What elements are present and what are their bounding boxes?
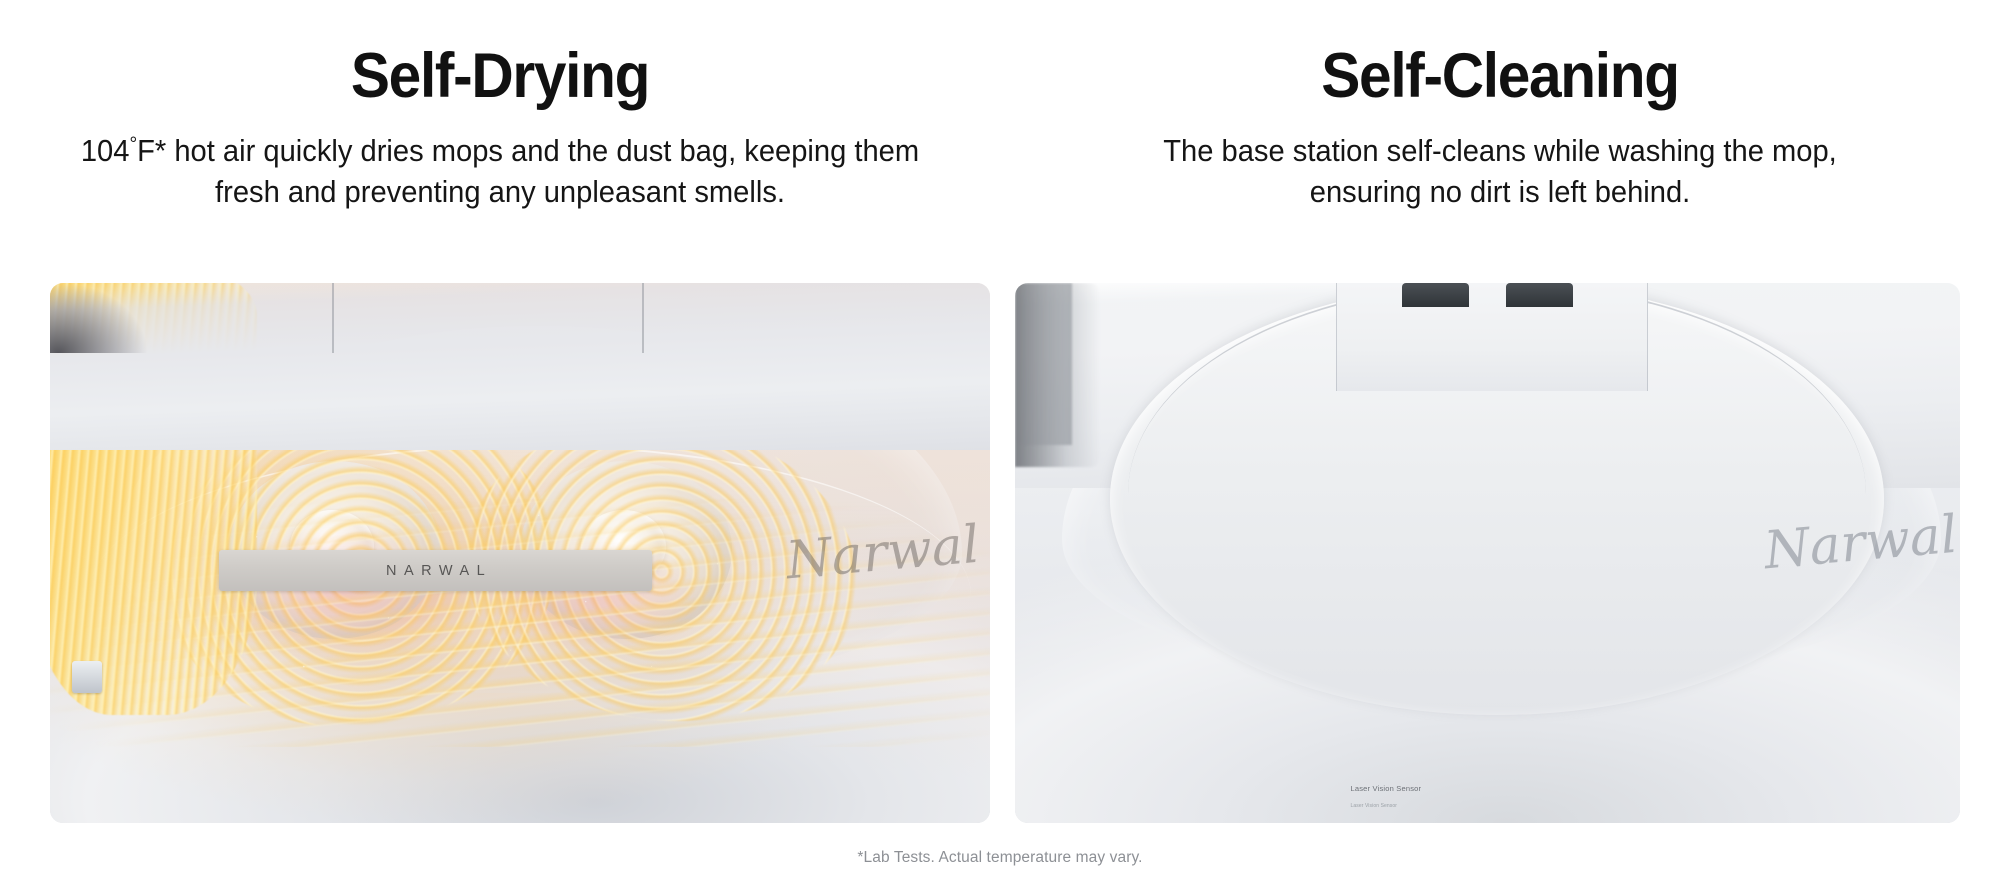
description-self-cleaning: The base station self-cleans while washi…: [1123, 108, 1877, 212]
robot-body-plate: [50, 283, 990, 450]
feature-comparison-page: Self-Drying 104°F* hot air quickly dries…: [0, 0, 2000, 889]
sensor-sublabel: Laser Vision Sensor: [1350, 803, 1397, 809]
body-seam-right: [642, 283, 644, 353]
feature-column-self-cleaning: Self-Cleaning The base station self-clea…: [1000, 0, 2000, 212]
degree-symbol: °: [129, 134, 137, 156]
page-title-self-cleaning: Self-Cleaning: [1035, 0, 1965, 108]
brand-logotype: NARWAL: [379, 563, 493, 579]
feature-column-self-drying: Self-Drying 104°F* hot air quickly dries…: [0, 0, 1000, 212]
sensor-panel: [1336, 283, 1648, 391]
feature-image-self-cleaning: NARWAL Laser Vision Sensor Laser Vision …: [1015, 283, 1960, 823]
feature-columns: Self-Drying 104°F* hot air quickly dries…: [0, 0, 2000, 212]
description-self-drying-text: 104°F* hot air quickly dries mops and th…: [81, 134, 919, 208]
corner-shadow: [50, 283, 153, 353]
side-shadow-right: [1015, 283, 1072, 445]
vent-left: [1402, 283, 1468, 307]
body-seam-left: [332, 283, 334, 353]
footnote-disclaimer: *Lab Tests. Actual temperature may vary.: [0, 849, 2000, 867]
feature-image-self-drying: NARWAL Narwal: [50, 283, 990, 823]
vent-right: [1506, 283, 1572, 307]
brand-strip-self-drying: NARWAL: [219, 550, 651, 591]
sensor-label: Laser Vision Sensor: [1350, 784, 1421, 793]
water-nozzle: [72, 661, 102, 693]
description-self-drying: 104°F* hot air quickly dries mops and th…: [80, 108, 920, 212]
page-title-self-drying: Self-Drying: [35, 0, 965, 108]
